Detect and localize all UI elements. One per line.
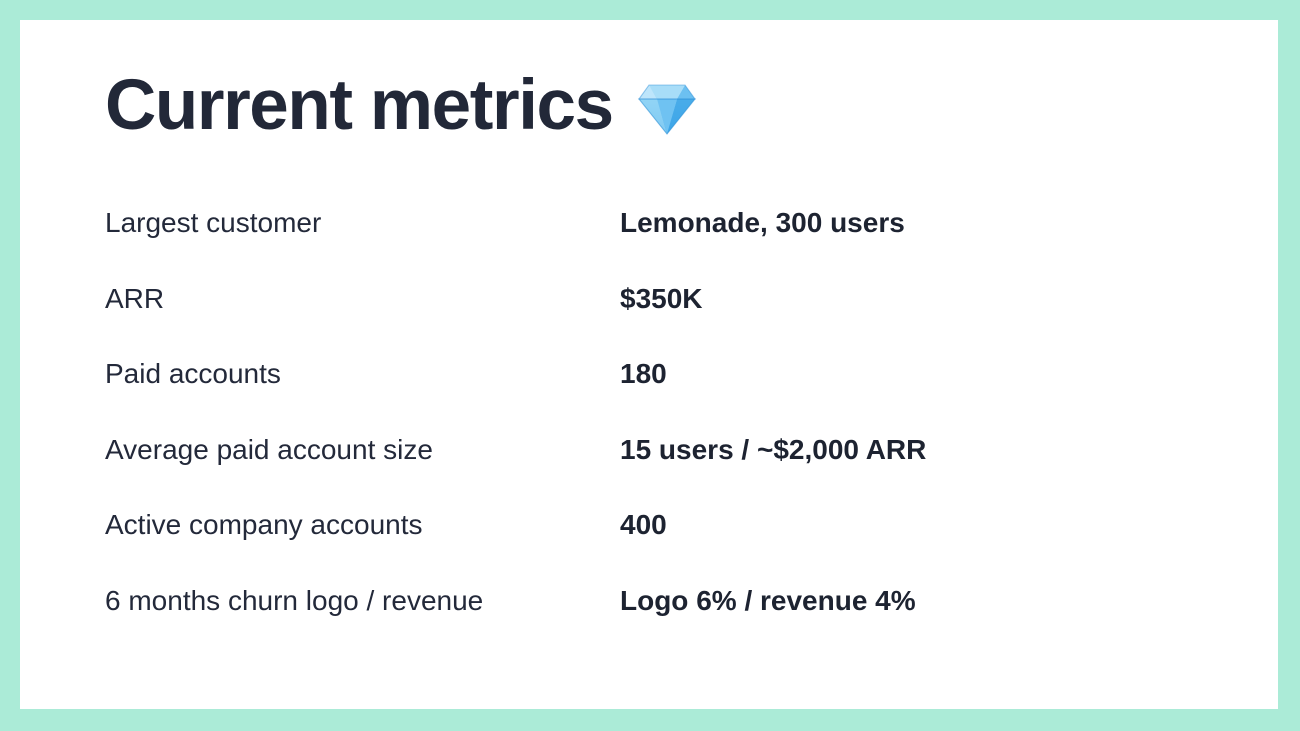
slide-card: Current metrics <box>20 20 1278 709</box>
slide-border-frame: Current metrics <box>0 0 1300 731</box>
metric-label: Paid accounts <box>105 357 620 391</box>
metric-label: Active company accounts <box>105 508 620 542</box>
metric-value: Logo 6% / revenue 4% <box>620 584 1185 618</box>
metric-value: $350K <box>620 282 1185 316</box>
metric-value: Lemonade, 300 users <box>620 206 1185 240</box>
table-row: ARR $350K <box>105 282 1185 358</box>
metric-label: Average paid account size <box>105 433 620 467</box>
table-row: Paid accounts 180 <box>105 357 1185 433</box>
gem-stone-icon <box>635 72 699 140</box>
page-title-text: Current metrics <box>105 70 613 141</box>
metrics-table: Largest customer Lemonade, 300 users ARR… <box>105 206 1185 659</box>
metric-label: 6 months churn logo / revenue <box>105 584 620 618</box>
page-title: Current metrics <box>105 70 699 141</box>
metric-label: Largest customer <box>105 206 620 240</box>
table-row: 6 months churn logo / revenue Logo 6% / … <box>105 584 1185 660</box>
metric-value: 400 <box>620 508 1185 542</box>
metric-label: ARR <box>105 282 620 316</box>
table-row: Largest customer Lemonade, 300 users <box>105 206 1185 282</box>
metric-value: 180 <box>620 357 1185 391</box>
metric-value: 15 users / ~$2,000 ARR <box>620 433 1185 467</box>
table-row: Active company accounts 400 <box>105 508 1185 584</box>
table-row: Average paid account size 15 users / ~$2… <box>105 433 1185 509</box>
